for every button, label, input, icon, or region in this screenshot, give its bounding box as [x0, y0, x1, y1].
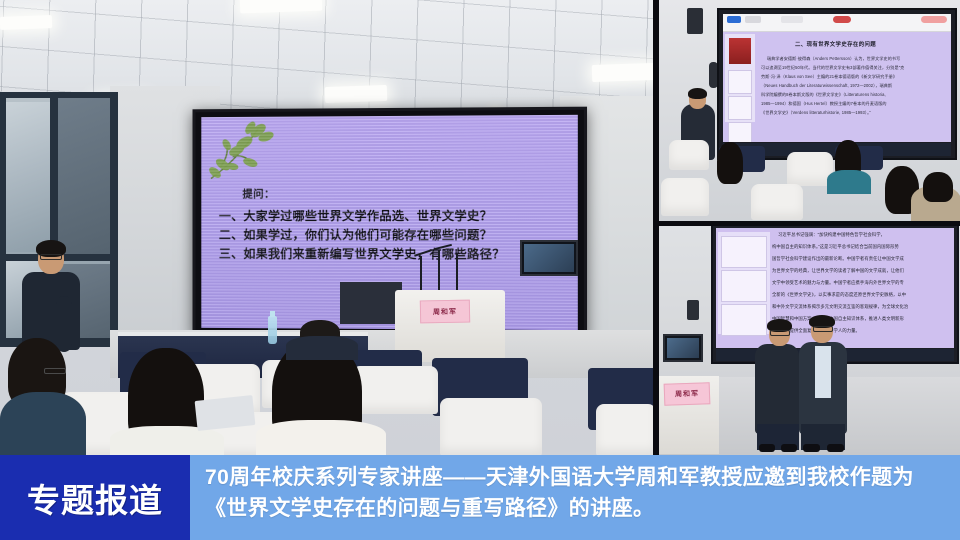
caption-line-2: 《世界文学史存在的问题与重写路径》的讲座。 [205, 494, 942, 525]
caption-line-1: 70周年校庆系列专家讲座——天津外国语大学周和军教授应邀到我校作题为 [205, 463, 942, 494]
confidence-monitor [663, 334, 703, 362]
bottom-right-photo: 习近平总书记强调：“加快构建中国特色哲学社会科学， 构中国自主的知识体系。”这是… [659, 226, 960, 455]
document-line: 为世界文学的经典，让世界文学的读者了解中国的文学成就，让他们 [772, 268, 904, 274]
water-bottle [268, 316, 277, 344]
glasses-icon [44, 368, 66, 374]
podium-nameplate: 周和军 [664, 382, 711, 406]
document-line: 科学院编撰的8卷本斯文版的《世界文学史》（Litteraturens histo… [761, 92, 886, 98]
slide-item-3: 三、如果我们来重新编写世界文学史，有哪些路径？ [219, 245, 564, 265]
slide-item-2: 二、如果学过，你们认为他们可能存在哪些问题？ [219, 226, 564, 245]
ceiling-light [0, 15, 52, 30]
document-line: 和中外文学交流体系揭示多元文明交流互鉴的客观规律，为全球文化治 [772, 304, 908, 310]
confidence-monitor [520, 240, 578, 276]
audience-shoulders [0, 392, 86, 455]
wall-speaker [687, 300, 699, 320]
document-thumbnail-pane [725, 34, 755, 122]
document-line: 《世界文学史》（Verdens litteraturhistorie, 1985… [761, 110, 871, 116]
audience-shoulders [256, 420, 386, 455]
word-ribbon [723, 14, 951, 32]
document-line: 中国智慧和中国方案。为建构中国自主知识体系，推进人类文明新形 [772, 316, 904, 322]
audience-shoulders [110, 426, 224, 455]
news-photo-collage: 提问： 一、大家学过哪些世界文学作品选、世界文学史？ 二、如果学过，你们认为他们… [0, 0, 960, 540]
document-line: 构中国自主的知识体系。”这是习近平总书记结合当前国内国际形势 [772, 244, 899, 250]
caption-text: 70周年校庆系列专家讲座——天津外国语大学周和军教授应邀到我校作题为 《世界文学… [205, 463, 942, 524]
audience-head [717, 142, 743, 184]
lectern-nameplate-text: 周和军 [433, 306, 457, 316]
document-heading: 二、现有世界文学史存在的问题 [795, 40, 876, 48]
audience-shoulders [286, 336, 358, 360]
slide-item-1: 一、大家学过哪些世界文学作品选、世界文学史？ [219, 207, 564, 226]
podium-nameplate-text: 周和军 [675, 389, 699, 400]
document-line: 瑞典学者安德斯·彼得森（Anders Pettersson）认为，世界文学史的书… [767, 56, 900, 62]
photo-collage: 提问： 一、大家学过哪些世界文学作品选、世界文学史？ 二、如果学过，你们认为他们… [0, 0, 960, 455]
word-document: 习近平总书记强调：“加快构建中国特色哲学社会科学， 构中国自主的知识体系。”这是… [716, 228, 954, 348]
main-lecture-photo: 提问： 一、大家学过哪些世界文学作品选、世界文学史？ 二、如果学过，你们认为他们… [0, 0, 653, 455]
audience-shoulders [827, 170, 871, 194]
chair [440, 398, 542, 455]
document-line: 1985—1994）和德国（Hus Hertel）教授主编的7卷本的丹麦语版的 [761, 101, 887, 107]
ceiling-light [325, 85, 388, 103]
category-badge: 专题报道 [0, 455, 190, 540]
wall-speaker [687, 8, 703, 34]
document-line: 全新的《世界文学史》，以实事求是的态度还原世界文学史脉络，以中 [772, 292, 906, 298]
document-line: 习近平总书记强调：“加快构建中国特色哲学社会科学， [778, 232, 885, 238]
notebook [195, 395, 256, 431]
chair [751, 184, 803, 220]
lectern-nameplate: 周和军 [420, 300, 470, 324]
chair [596, 404, 653, 455]
presenter-hair [688, 88, 707, 99]
audience-head [923, 172, 953, 202]
presentation-screen: 二、现有世界文学史存在的问题 瑞典学者安德斯·彼得森（Anders Petter… [717, 8, 957, 160]
top-right-photo: 二、现有世界文学史存在的问题 瑞典学者安德斯·彼得森（Anders Petter… [659, 0, 960, 221]
slide-prompt-label: 提问： [242, 186, 563, 202]
book-cover-image [729, 38, 751, 64]
word-document: 二、现有世界文学史存在的问题 瑞典学者安德斯·彼得森（Anders Petter… [723, 14, 951, 142]
document-line: 国哲学社会科学建设作出的最新论断。中国学者有责任让中国文学成 [772, 256, 904, 262]
chair [352, 366, 438, 414]
chair [661, 178, 709, 216]
caption-bar: 专题报道 70周年校庆系列专家讲座——天津外国语大学周和军教授应邀到我校作题为 … [0, 455, 960, 540]
document-line: 文学中领受艺术的魅力与力量。中国学者应携手海内外世界文学的专 [772, 280, 904, 286]
chair [669, 140, 709, 170]
ceiling-light [592, 63, 653, 82]
document-line: 劳斯·冯·泽（Klaus von See）主编的21卷本德语版的《新文学研究手册… [761, 74, 897, 80]
document-line: 可以追溯至19世纪50年代。当代的世界文学史有3部著作值得关注，分别是“克 [761, 65, 904, 71]
document-thumbnail-pane [718, 232, 770, 334]
document-line: （Neues Handbuch der Literaturwissenschaf… [761, 83, 892, 89]
av-rack [340, 282, 402, 324]
category-badge-label: 专题报道 [27, 474, 163, 522]
